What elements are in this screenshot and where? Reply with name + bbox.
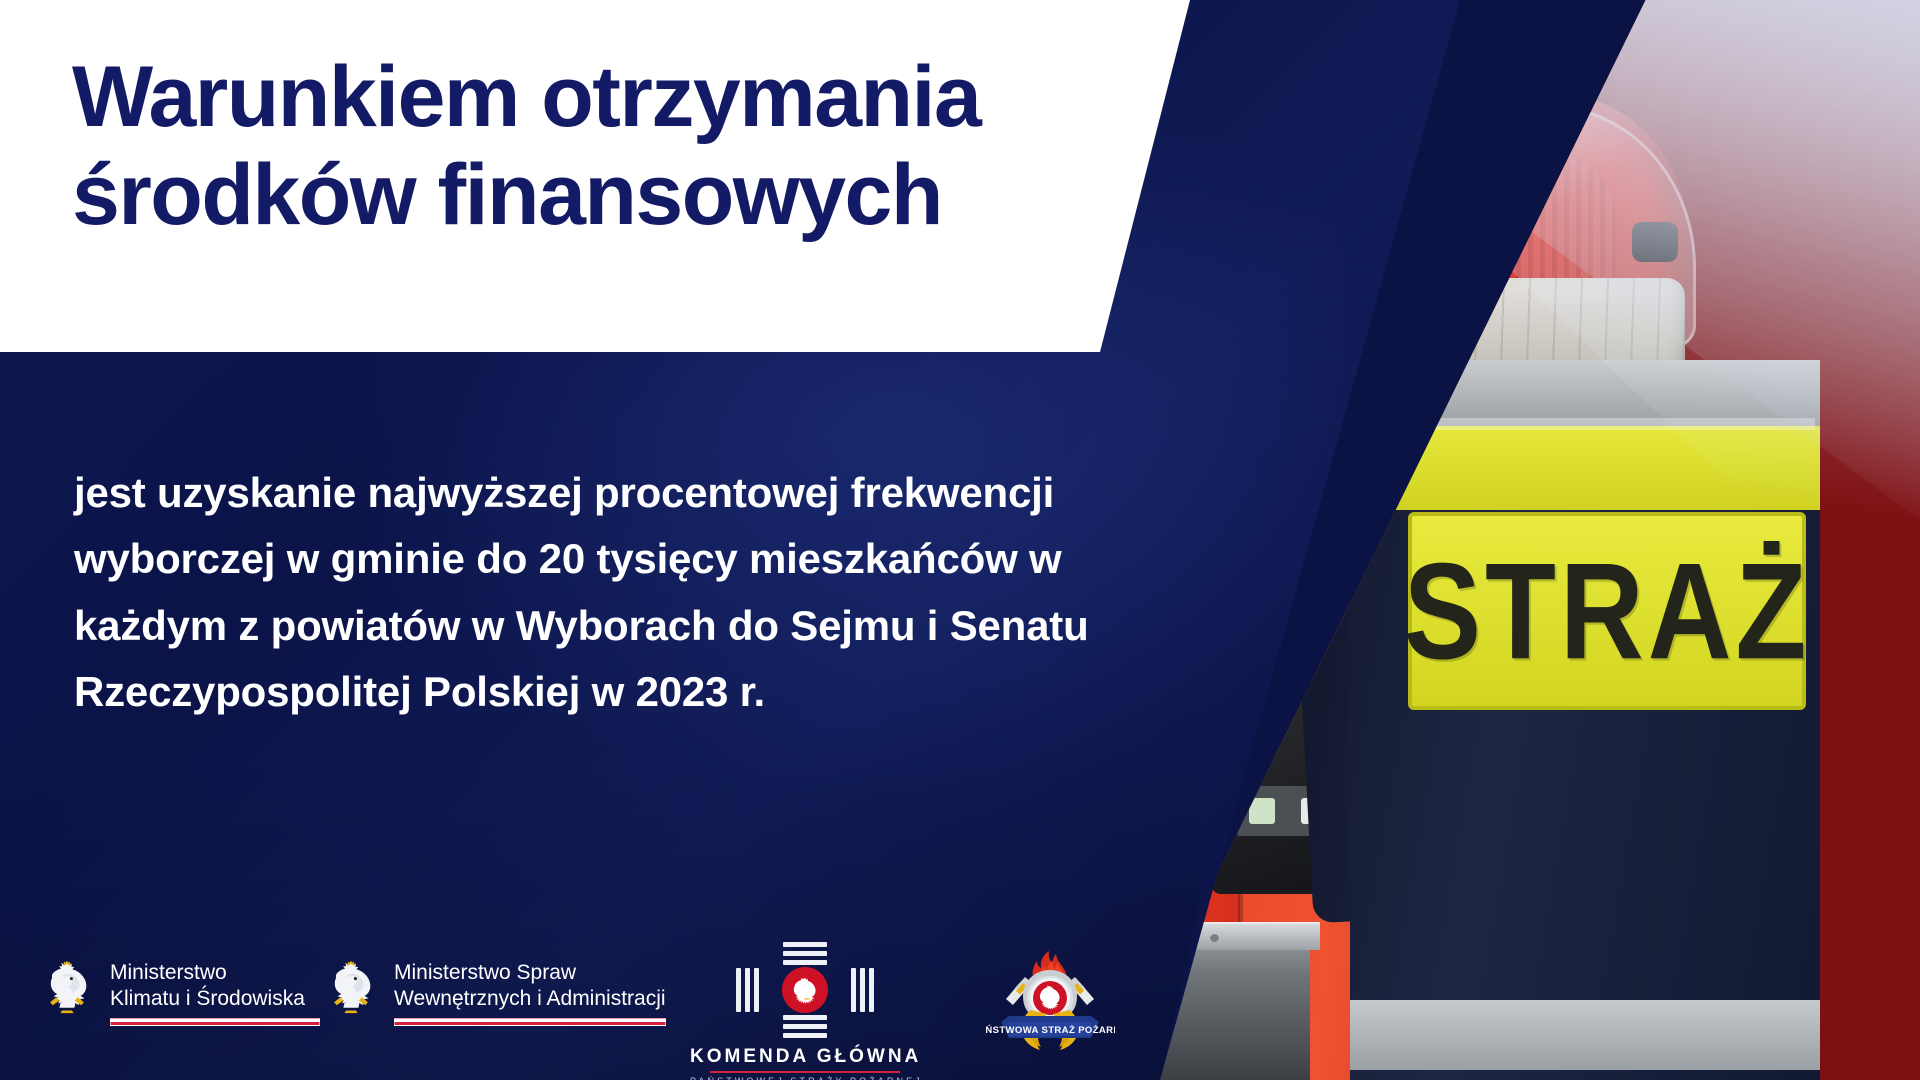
logo-ministerstwo-swia: Ministerstwo Spraw Wewnętrznych i Admini… [320,958,666,1026]
straz-patch-text: STRAŻ [1404,532,1811,690]
psp-crest-icon: PAŃSTWOWA STRAŻ POŻARNA [985,944,1115,1062]
body-text: jest uzyskanie najwyższej procentowej fr… [74,460,1214,725]
body-line-3: każdym z powiatów w Wyborach do Sejmu i … [74,593,1214,659]
ministry-name-block: Ministerstwo Klimatu i Środowiska [110,958,320,1026]
jacket-yellow-band [1350,426,1820,510]
komenda-rule [710,1071,900,1073]
jacket-straz-patch: STRAŻ [1408,512,1806,710]
komenda-name: KOMENDA GŁÓWNA [690,1046,920,1068]
title-line-1: Warunkiem otrzymania [72,48,1162,146]
jacket-bottom-band [1350,1000,1820,1070]
psp-cross-icon [730,940,880,1040]
ministry-line-1: Ministerstwo [110,960,320,986]
ministry-line-2: Klimatu i Środowiska [110,986,320,1012]
jacket-strap [1360,418,1815,430]
title-line-2: środków finansowych [72,146,1162,244]
body-line-1: jest uzyskanie najwyższej procentowej fr… [74,460,1214,526]
svg-text:PAŃSTWOWA STRAŻ POŻARNA: PAŃSTWOWA STRAŻ POŻARNA [985,1025,1115,1036]
body-line-4: Rzeczypospolitej Polskiej w 2023 r. [74,659,1214,725]
logo-ministerstwo-klimatu: Ministerstwo Klimatu i Środowiska [36,958,320,1026]
page-title: Warunkiem otrzymania środków finansowych [72,48,1162,244]
logo-psp-crest: PAŃSTWOWA STRAŻ POŻARNA [985,944,1135,1062]
logo-komenda-glowna: KOMENDA GŁÓWNA PAŃSTWOWEJ STRAŻY POŻARNE… [690,940,920,1080]
ministry-name-block: Ministerstwo Spraw Wewnętrznych i Admini… [394,958,666,1026]
poster-slide: STRAŻ Warunkiem otrzymania środków finan… [0,0,1920,1080]
psp-eagle-roundel [782,967,828,1013]
komenda-subtitle: PAŃSTWOWEJ STRAŻY POŻARNEJ [690,1076,920,1080]
jacket-reflective-band [1350,360,1820,426]
ministry-line-2: Wewnętrznych i Administracji [394,986,666,1012]
bolt [1210,933,1219,942]
body-line-2: wyborczej w gminie do 20 tysięcy mieszka… [74,526,1214,592]
ministry-line-1: Ministerstwo Spraw [394,960,666,986]
polish-eagle-icon [36,958,98,1022]
helmet-knob [1632,222,1678,262]
polish-eagle-icon [320,958,382,1022]
polish-flag-bar [110,1018,320,1026]
polish-flag-bar [394,1018,666,1026]
footer-logos: Ministerstwo Klimatu i Środowiska Mi [0,930,1200,1080]
